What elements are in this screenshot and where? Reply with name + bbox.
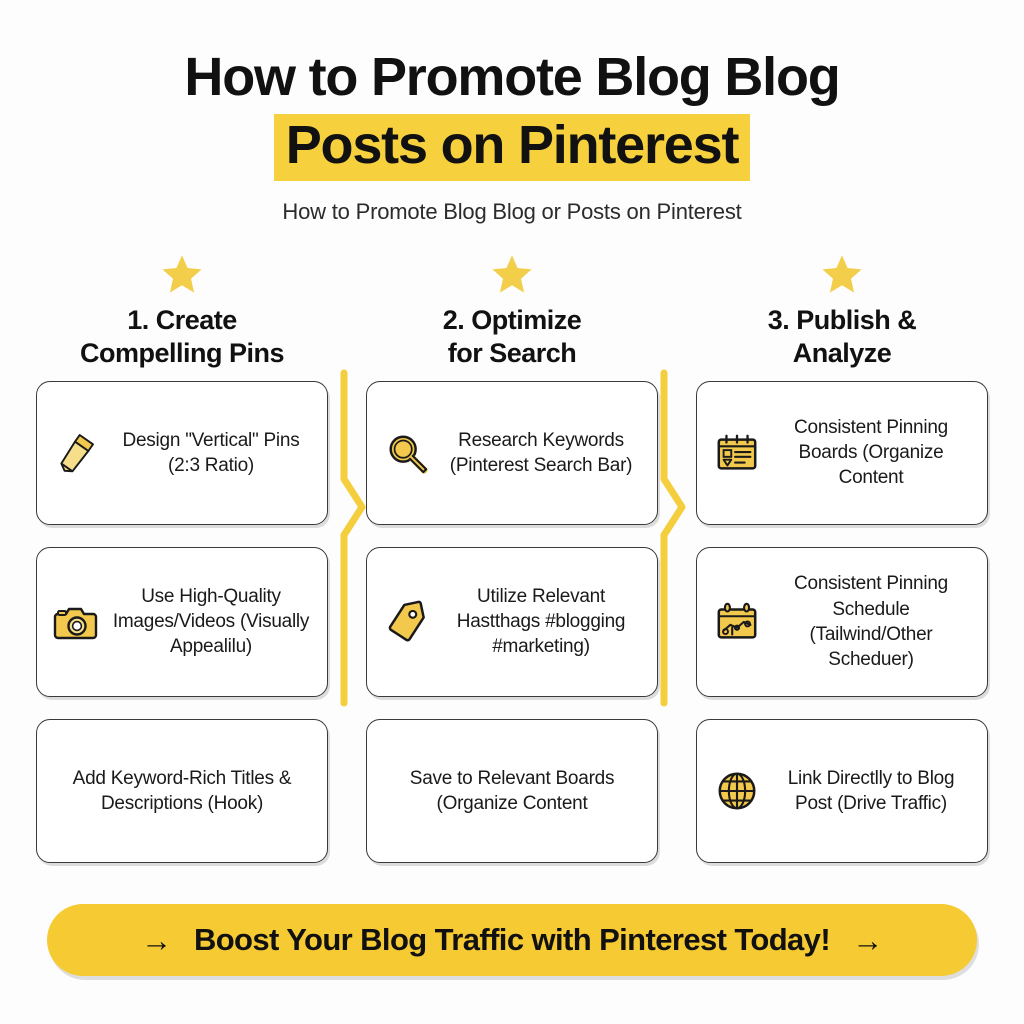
card-text: Link Directlly to Blog Post (Drive Traff… [769,766,973,816]
card-text: Utilize Relevant Hastthags #blogging #ma… [439,584,643,659]
steps-columns: 1. Create Compelling Pins [0,251,1024,863]
column-3-cards: Consistent Pinning Boards (Organize Cont… [696,381,988,863]
card-consistent-pinning-schedule[interactable]: Consistent Pinning Schedule (Tailwind/Ot… [696,547,988,697]
column-2-heading-line-1: 2. Optimize [443,305,582,335]
arrow-right-icon-right: → [852,925,883,956]
column-2-cards: Research Keywords (Pinterest Search Bar)… [366,381,658,863]
page-title-line-2-highlight: Posts on Pinterest [274,114,751,180]
card-text: Save to Relevant Boards (Organize Conten… [381,766,643,816]
star-icon [489,251,535,297]
star-icon [819,251,865,297]
column-1-heading-line-2: Compelling Pins [80,338,284,368]
card-link-directly-to-blog-post[interactable]: Link Directlly to Blog Post (Drive Traff… [696,719,988,863]
pen-icon [51,427,103,479]
card-research-keywords[interactable]: Research Keywords (Pinterest Search Bar) [366,381,658,525]
magnifier-icon [381,427,433,479]
card-save-to-relevant-boards[interactable]: Save to Relevant Boards (Organize Conten… [366,719,658,863]
column-3-heading-line-1: 3. Publish & [768,305,917,335]
card-use-high-quality-images[interactable]: Use High-Quality Images/Videos (Visually… [36,547,328,697]
card-text: Research Keywords (Pinterest Search Bar) [439,428,643,478]
column-1-cards: Design "Vertical" Pins (2:3 Ratio) Use H… [36,381,328,863]
star-icon [159,251,205,297]
column-1-heading: 1. Create Compelling Pins [76,301,288,373]
poster-header: How to Promote Blog Blog Posts on Pinter… [0,0,1024,225]
card-text: Design "Vertical" Pins (2:3 Ratio) [109,428,313,478]
column-2-heading-line-2: for Search [448,338,577,368]
infographic-poster: How to Promote Blog Blog Posts on Pinter… [0,0,1024,1024]
tag-icon [381,596,433,648]
connector-2 [658,251,692,863]
card-text: Use High-Quality Images/Videos (Visually… [109,584,313,659]
page-title-line-2-wrapper: Posts on Pinterest [0,114,1024,180]
checklist-board-icon [711,427,763,479]
column-2-heading: 2. Optimize for Search [439,301,586,373]
card-text: Consistent Pinning Schedule (Tailwind/Ot… [769,571,973,671]
globe-icon [711,765,763,817]
card-utilize-relevant-hashtags[interactable]: Utilize Relevant Hastthags #blogging #ma… [366,547,658,697]
column-1-heading-line-1: 1. Create [127,305,237,335]
page-title-line-1: How to Promote Blog Blog [0,48,1024,106]
column-create-compelling-pins: 1. Create Compelling Pins [36,251,328,863]
card-consistent-pinning-boards[interactable]: Consistent Pinning Boards (Organize Cont… [696,381,988,525]
card-design-vertical-pins[interactable]: Design "Vertical" Pins (2:3 Ratio) [36,381,328,525]
column-3-heading-line-2: Analyze [793,338,892,368]
card-text: Add Keyword-Rich Titles & Descriptions (… [51,766,313,816]
cta-label: Boost Your Blog Traffic with Pinterest T… [194,922,830,958]
cta-banner[interactable]: → Boost Your Blog Traffic with Pinterest… [47,904,977,976]
page-subtitle: How to Promote Blog Blog or Posts on Pin… [0,199,1024,225]
column-3-heading: 3. Publish & Analyze [764,301,921,373]
camera-icon [51,596,103,648]
card-text: Consistent Pinning Boards (Organize Cont… [769,415,973,490]
card-add-keyword-rich-titles[interactable]: Add Keyword-Rich Titles & Descriptions (… [36,719,328,863]
arrow-right-icon-left: → [141,925,172,956]
cta-banner-wrapper: → Boost Your Blog Traffic with Pinterest… [0,904,1024,976]
column-optimize-for-search: 2. Optimize for Search [366,251,658,863]
column-publish-and-analyze: 3. Publish & Analyze [696,251,988,863]
calendar-chart-icon [711,596,763,648]
